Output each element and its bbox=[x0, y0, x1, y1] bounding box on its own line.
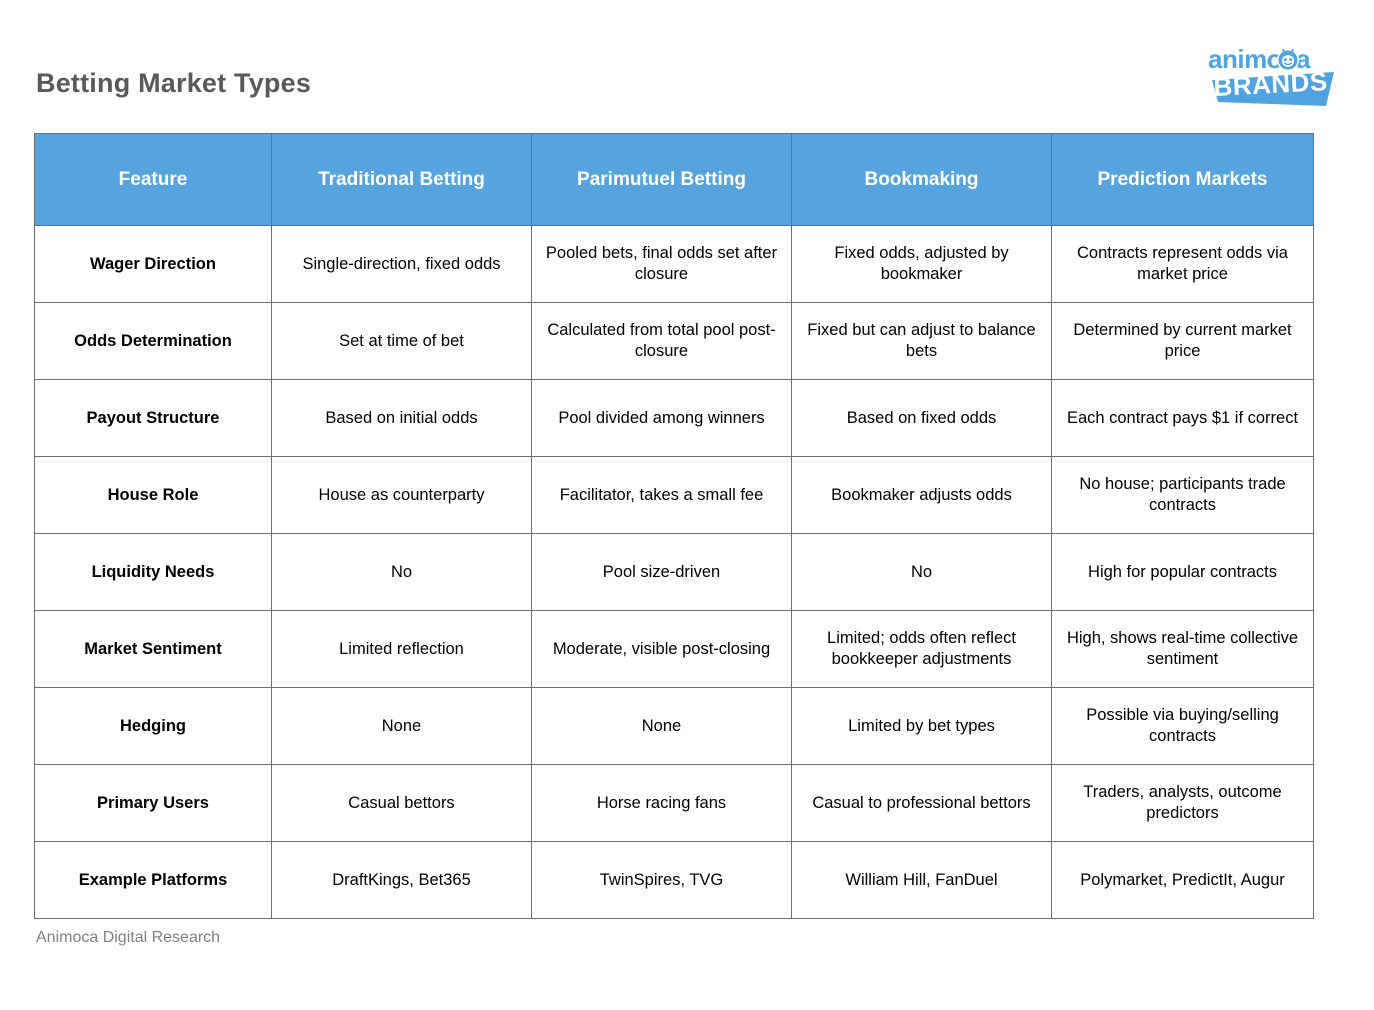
table-row: Odds Determination Set at time of bet Ca… bbox=[35, 303, 1314, 380]
cell-prediction: Each contract pays $1 if correct bbox=[1052, 380, 1314, 457]
cell-traditional: Single-direction, fixed odds bbox=[272, 226, 532, 303]
table-row: Liquidity Needs No Pool size-driven No H… bbox=[35, 534, 1314, 611]
table-row: Market Sentiment Limited reflection Mode… bbox=[35, 611, 1314, 688]
cell-traditional: House as counterparty bbox=[272, 457, 532, 534]
table-header-row: Feature Traditional Betting Parimutuel B… bbox=[35, 134, 1314, 226]
row-label: Payout Structure bbox=[35, 380, 272, 457]
column-header-feature: Feature bbox=[35, 134, 272, 226]
row-label: House Role bbox=[35, 457, 272, 534]
cell-bookmaking: No bbox=[792, 534, 1052, 611]
cell-prediction: High for popular contracts bbox=[1052, 534, 1314, 611]
row-label: Primary Users bbox=[35, 765, 272, 842]
cell-traditional: No bbox=[272, 534, 532, 611]
table-row: Primary Users Casual bettors Horse racin… bbox=[35, 765, 1314, 842]
cell-bookmaking: Bookmaker adjusts odds bbox=[792, 457, 1052, 534]
cell-parimutuel: TwinSpires, TVG bbox=[532, 842, 792, 919]
cell-prediction: Traders, analysts, outcome predictors bbox=[1052, 765, 1314, 842]
table-row: House Role House as counterparty Facilit… bbox=[35, 457, 1314, 534]
column-header-prediction-markets: Prediction Markets bbox=[1052, 134, 1314, 226]
cell-traditional: Based on initial odds bbox=[272, 380, 532, 457]
animoca-brands-logo: animoca BRANDS bbox=[1204, 36, 1336, 110]
cell-traditional: None bbox=[272, 688, 532, 765]
table-row: Example Platforms DraftKings, Bet365 Twi… bbox=[35, 842, 1314, 919]
cell-bookmaking: Limited; odds often reflect bookkeeper a… bbox=[792, 611, 1052, 688]
cell-traditional: Limited reflection bbox=[272, 611, 532, 688]
row-label: Example Platforms bbox=[35, 842, 272, 919]
column-header-traditional-betting: Traditional Betting bbox=[272, 134, 532, 226]
cell-traditional: Casual bettors bbox=[272, 765, 532, 842]
cell-prediction: Determined by current market price bbox=[1052, 303, 1314, 380]
cell-traditional: Set at time of bet bbox=[272, 303, 532, 380]
footer-attribution: Animoca Digital Research bbox=[36, 929, 220, 947]
page-title: Betting Market Types bbox=[36, 68, 311, 99]
slide-header: Betting Market Types animoca BRANDS bbox=[0, 0, 1374, 132]
cell-parimutuel: Facilitator, takes a small fee bbox=[532, 457, 792, 534]
cell-parimutuel: Horse racing fans bbox=[532, 765, 792, 842]
cell-prediction: High, shows real-time collective sentime… bbox=[1052, 611, 1314, 688]
table-row: Payout Structure Based on initial odds P… bbox=[35, 380, 1314, 457]
cell-bookmaking: Based on fixed odds bbox=[792, 380, 1052, 457]
cell-prediction: Polymarket, PredictIt, Augur bbox=[1052, 842, 1314, 919]
cell-parimutuel: Pooled bets, final odds set after closur… bbox=[532, 226, 792, 303]
cell-parimutuel: None bbox=[532, 688, 792, 765]
cell-parimutuel: Moderate, visible post-closing bbox=[532, 611, 792, 688]
cell-prediction: Possible via buying/selling contracts bbox=[1052, 688, 1314, 765]
svg-text:BRANDS: BRANDS bbox=[1213, 66, 1329, 102]
cell-parimutuel: Pool divided among winners bbox=[532, 380, 792, 457]
comparison-table-container: Feature Traditional Betting Parimutuel B… bbox=[34, 133, 1313, 919]
cell-prediction: Contracts represent odds via market pric… bbox=[1052, 226, 1314, 303]
table-row: Wager Direction Single-direction, fixed … bbox=[35, 226, 1314, 303]
row-label: Liquidity Needs bbox=[35, 534, 272, 611]
cell-bookmaking: Casual to professional bettors bbox=[792, 765, 1052, 842]
cell-parimutuel: Calculated from total pool post-closure bbox=[532, 303, 792, 380]
row-label: Market Sentiment bbox=[35, 611, 272, 688]
row-label: Odds Determination bbox=[35, 303, 272, 380]
cell-parimutuel: Pool size-driven bbox=[532, 534, 792, 611]
cell-bookmaking: William Hill, FanDuel bbox=[792, 842, 1052, 919]
cell-traditional: DraftKings, Bet365 bbox=[272, 842, 532, 919]
cell-bookmaking: Fixed but can adjust to balance bets bbox=[792, 303, 1052, 380]
row-label: Hedging bbox=[35, 688, 272, 765]
animoca-brands-logo-icon: animoca BRANDS bbox=[1204, 36, 1336, 110]
column-header-parimutuel-betting: Parimutuel Betting bbox=[532, 134, 792, 226]
cell-prediction: No house; participants trade contracts bbox=[1052, 457, 1314, 534]
row-label: Wager Direction bbox=[35, 226, 272, 303]
table-row: Hedging None None Limited by bet types P… bbox=[35, 688, 1314, 765]
cell-bookmaking: Fixed odds, adjusted by bookmaker bbox=[792, 226, 1052, 303]
cell-bookmaking: Limited by bet types bbox=[792, 688, 1052, 765]
betting-market-types-table: Feature Traditional Betting Parimutuel B… bbox=[34, 133, 1314, 919]
column-header-bookmaking: Bookmaking bbox=[792, 134, 1052, 226]
